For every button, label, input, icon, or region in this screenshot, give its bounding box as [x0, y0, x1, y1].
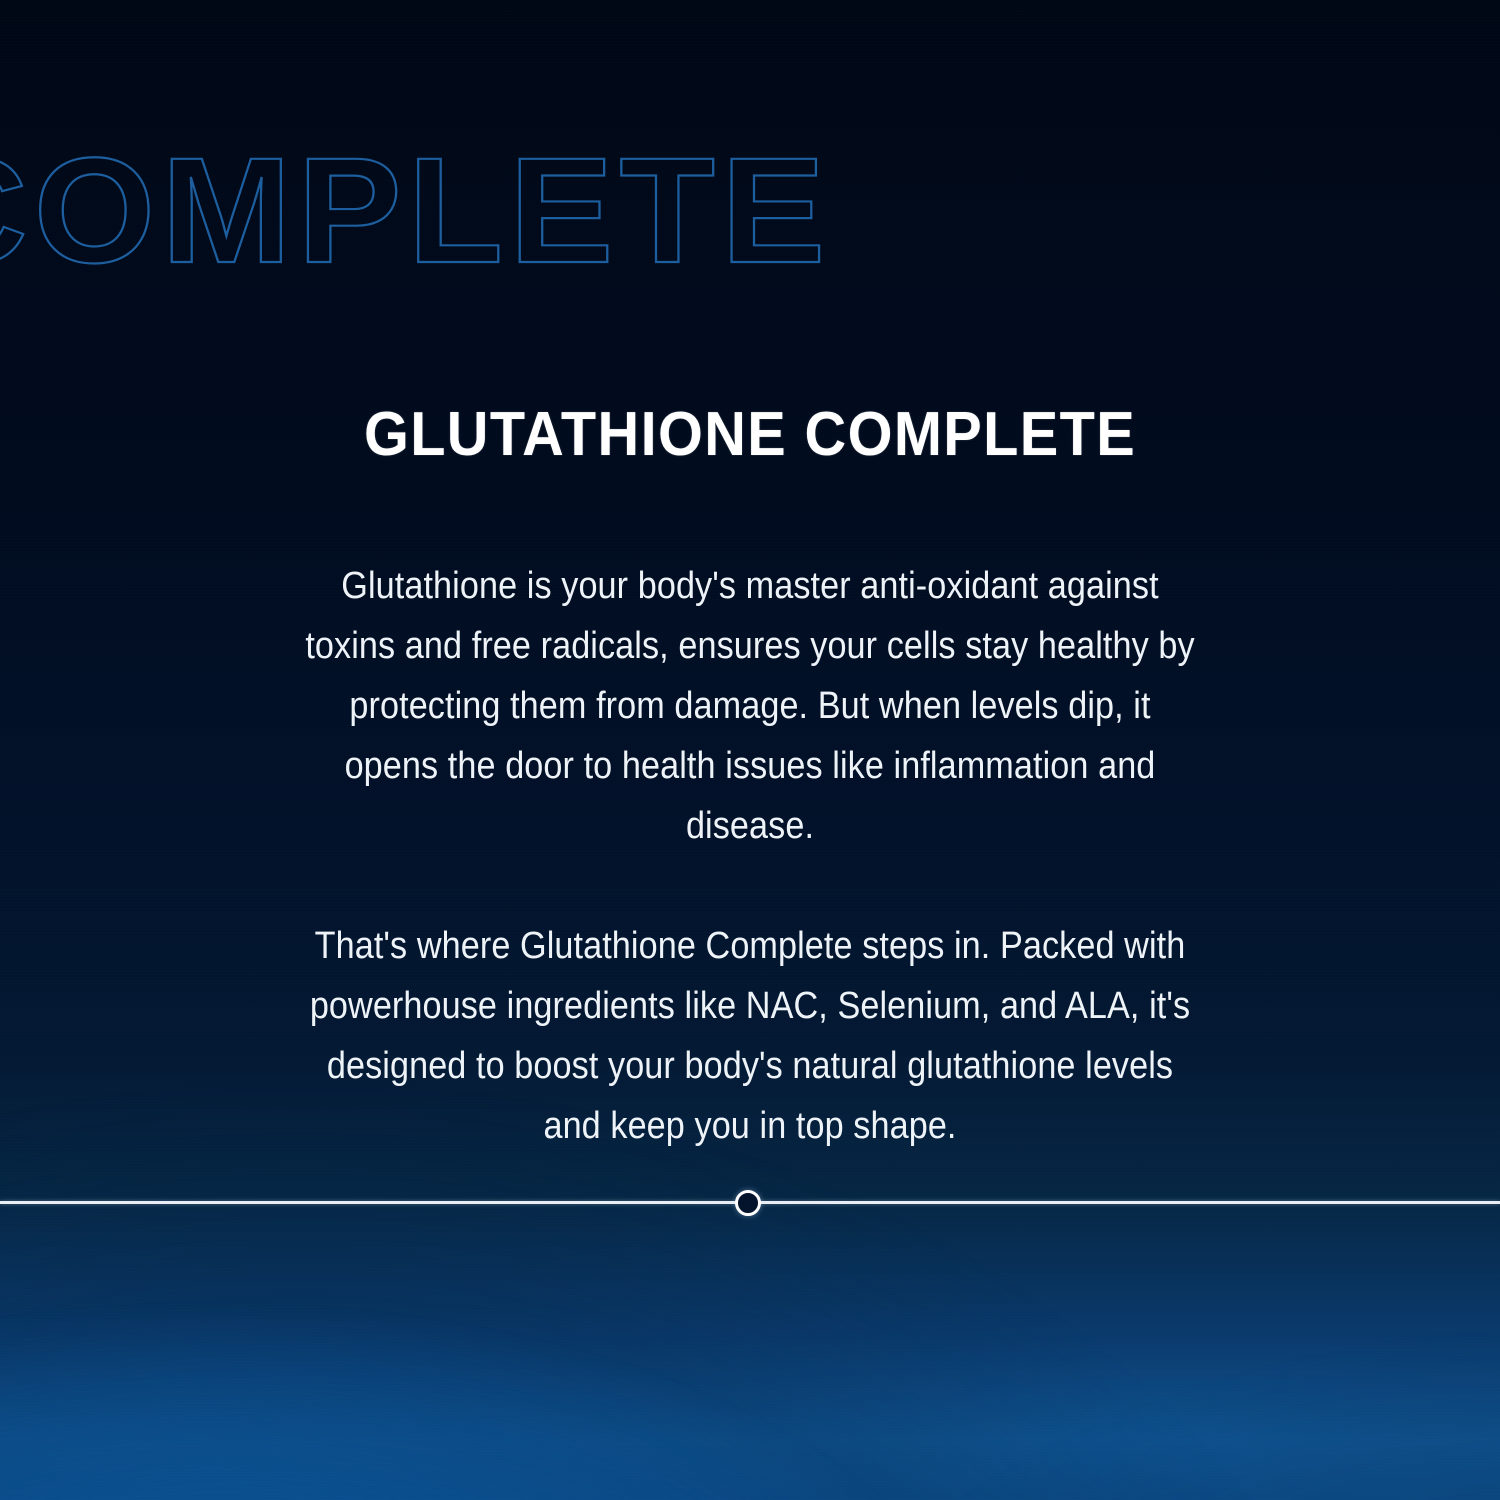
body-paragraph-1: Glutathione is your body's master anti-o…	[300, 556, 1200, 856]
page-title: GLUTATHIONE COMPLETE	[53, 404, 1448, 466]
body-copy: Glutathione is your body's master anti-o…	[250, 556, 1250, 1156]
product-info-section: E COMPLETE GLUTATHIONE COMPLETE Glutathi…	[0, 0, 1500, 1500]
body-paragraph-2: That's where Glutathione Complete steps …	[300, 916, 1200, 1156]
circle-outline-icon	[735, 1190, 761, 1216]
